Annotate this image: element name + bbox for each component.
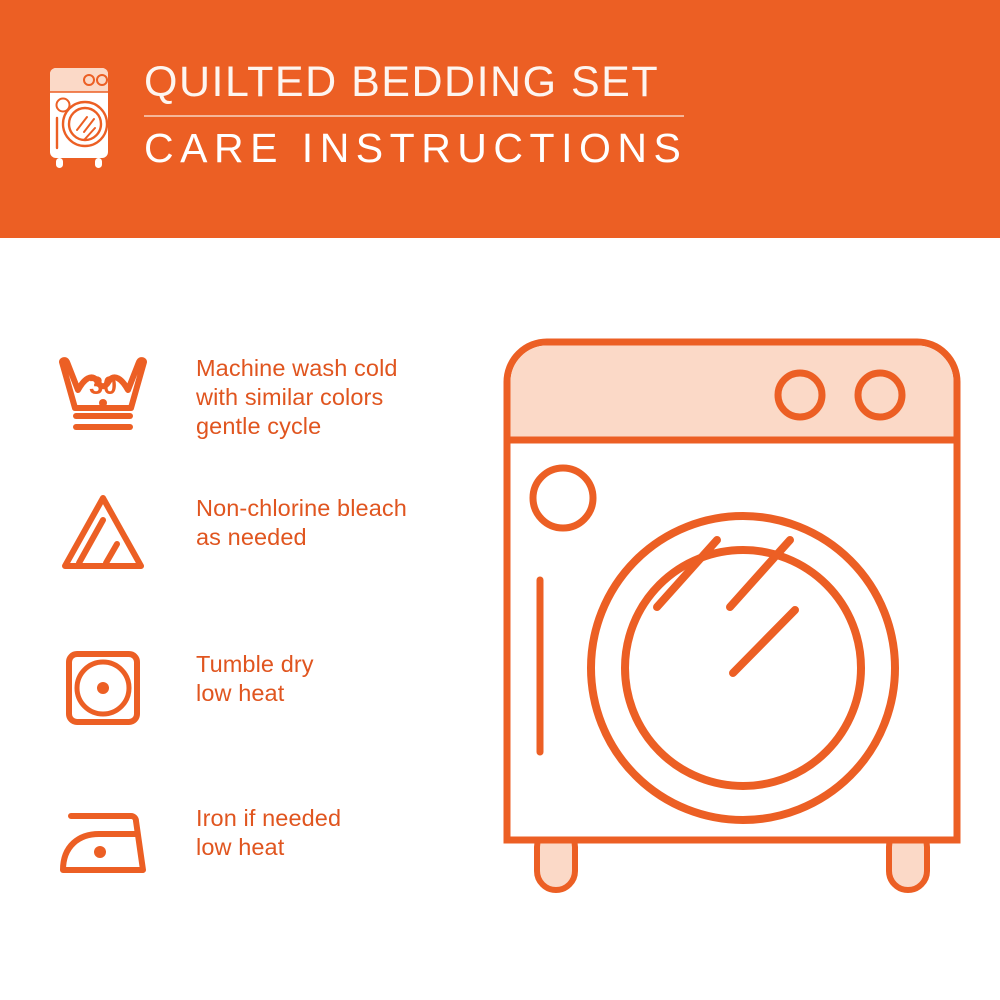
tumble-dry-low-heat-icon <box>53 646 153 730</box>
care-row-iron: Iron if needed low heat <box>48 800 488 884</box>
care-instruction-list: 30 Machine wash cold with similar colors… <box>0 238 500 1000</box>
page-subtitle: CARE INSTRUCTIONS <box>144 125 687 171</box>
gentle-bar-2 <box>73 424 133 430</box>
wash-dot <box>99 399 107 407</box>
care-line: as needed <box>196 523 407 552</box>
care-line: low heat <box>196 679 314 708</box>
header-content: QUILTED BEDDING SET CARE INSTRUCTIONS <box>44 58 687 174</box>
header-banner: QUILTED BEDDING SET CARE INSTRUCTIONS <box>0 0 1000 238</box>
care-line: Non-chlorine bleach <box>196 494 407 523</box>
wash-temperature-label: 30 <box>89 372 117 400</box>
machine-wash-cold-30-gentle-icon: 30 <box>53 350 153 434</box>
care-row-bleach: Non-chlorine bleach as needed <box>48 490 488 574</box>
care-row-tumble-dry: Tumble dry low heat <box>48 646 488 730</box>
washing-machine-icon <box>44 62 116 174</box>
care-line: Machine wash cold <box>196 354 398 383</box>
iron-heat-dot <box>94 846 106 858</box>
dry-heat-dot <box>97 682 109 694</box>
care-text-machine-wash: Machine wash cold with similar colors ge… <box>196 350 398 441</box>
care-line: low heat <box>196 833 341 862</box>
care-text-bleach: Non-chlorine bleach as needed <box>196 490 407 552</box>
care-symbol-wrapper: 30 <box>48 350 158 434</box>
title-divider <box>144 115 684 117</box>
care-row-machine-wash: 30 Machine wash cold with similar colors… <box>48 350 488 441</box>
care-text-iron: Iron if needed low heat <box>196 800 341 862</box>
care-line: with similar colors <box>196 383 398 412</box>
care-line: Tumble dry <box>196 650 314 679</box>
care-text-tumble-dry: Tumble dry low heat <box>196 646 314 708</box>
care-line: Iron if needed <box>196 804 341 833</box>
care-symbol-wrapper <box>48 646 158 730</box>
care-symbol-wrapper <box>48 800 158 884</box>
gentle-bar-1 <box>73 413 133 419</box>
non-chlorine-bleach-triangle-icon <box>53 490 153 574</box>
control-panel <box>511 346 954 441</box>
care-symbol-wrapper <box>48 490 158 574</box>
washing-machine-illustration <box>495 330 985 930</box>
page-title: QUILTED BEDDING SET <box>144 58 687 106</box>
washing-machine-svg <box>495 330 985 930</box>
title-block: QUILTED BEDDING SET CARE INSTRUCTIONS <box>144 58 687 171</box>
care-line: gentle cycle <box>196 412 398 441</box>
iron-low-heat-icon <box>53 800 153 884</box>
